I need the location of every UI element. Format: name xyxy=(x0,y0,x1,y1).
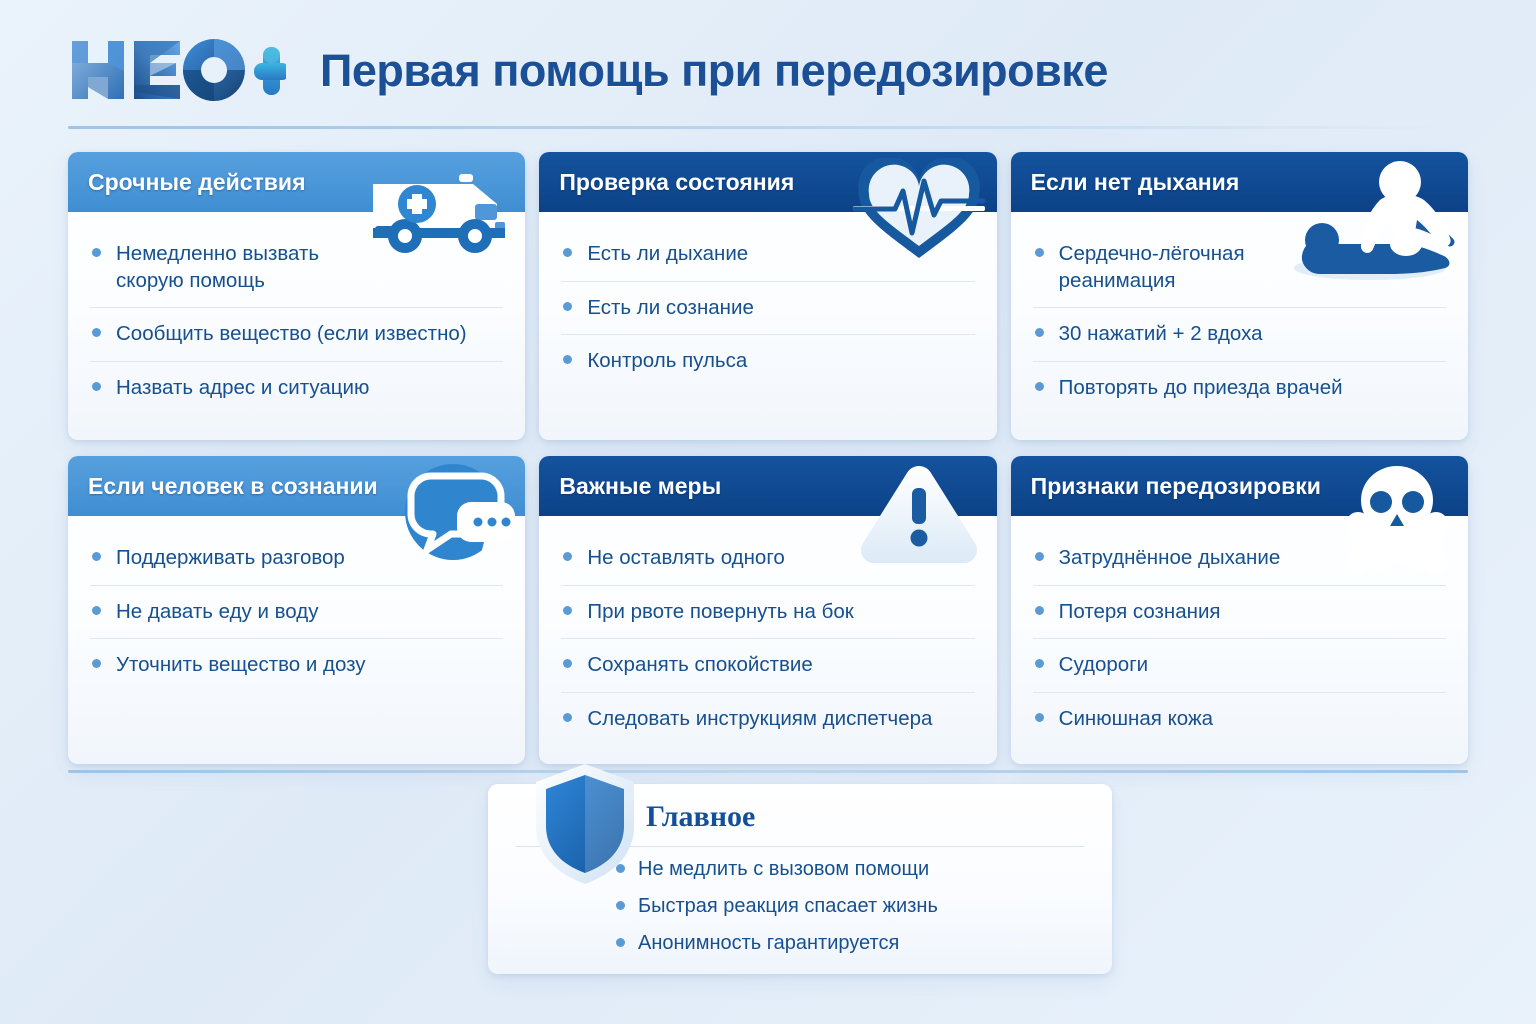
card-body: Поддерживать разговор Не давать еду и во… xyxy=(68,516,525,764)
list-item: Повторять до приезда врачей xyxy=(1033,362,1446,415)
card-no-breathing[interactable]: Если нет дыхания Сердечно-лёгочная реани… xyxy=(1011,152,1468,440)
summary-title: Главное xyxy=(646,802,1084,832)
cards-grid: Срочные действия Немедленно вызвать скор… xyxy=(68,152,1468,764)
list-item: Сообщить вещество (если известно) xyxy=(90,308,503,362)
list-item: Быстрая реакция спасает жизнь xyxy=(616,888,1084,925)
list-item: Не оставлять одного xyxy=(561,532,974,586)
card-body: Не оставлять одного При рвоте повернуть … xyxy=(539,516,996,764)
card-overdose-signs[interactable]: Признаки передозировки xyxy=(1011,456,1468,764)
list-item: Назвать адрес и ситуацию xyxy=(90,362,503,415)
card-conscious-person[interactable]: Если человек в сознании Поддерживать раз… xyxy=(68,456,525,764)
list-item: Немедленно вызвать скорую помощь xyxy=(90,228,503,308)
card-title: Срочные действия xyxy=(88,171,306,194)
card-header: Срочные действия xyxy=(68,152,525,212)
card-header: Если человек в сознании xyxy=(68,456,525,516)
card-list: Немедленно вызвать скорую помощь Сообщит… xyxy=(90,228,503,415)
card-title: Важные меры xyxy=(559,475,721,498)
card-header: Важные меры xyxy=(539,456,996,516)
list-item: Поддерживать разговор xyxy=(90,532,503,586)
card-list: Поддерживать разговор Не давать еду и во… xyxy=(90,532,503,692)
list-item: При рвоте повернуть на бок xyxy=(561,586,974,640)
summary-panel[interactable]: Главное Не медлить с вызовом помощи Быст… xyxy=(488,784,1112,974)
page-header: Первая помощь при передозировке xyxy=(68,22,1468,118)
list-item: 30 нажатий + 2 вдоха xyxy=(1033,308,1446,362)
header-divider xyxy=(68,126,1468,129)
card-list: Не оставлять одного При рвоте повернуть … xyxy=(561,532,974,746)
list-item: Следовать инструкциям диспетчера xyxy=(561,693,974,746)
list-item: Синюшная кожа xyxy=(1033,693,1446,746)
footer-divider xyxy=(68,770,1468,773)
list-item: Уточнить вещество и дозу xyxy=(90,639,503,692)
card-list: Сердечно-лёгочная реанимация 30 нажатий … xyxy=(1033,228,1446,415)
neo-plus-logo xyxy=(68,35,286,105)
card-title: Если нет дыхания xyxy=(1031,171,1240,194)
card-body: Затруднённое дыхание Потеря сознания Суд… xyxy=(1011,516,1468,764)
card-header: Если нет дыхания xyxy=(1011,152,1468,212)
card-urgent-actions[interactable]: Срочные действия Немедленно вызвать скор… xyxy=(68,152,525,440)
card-important-measures[interactable]: Важные меры Не оставлять одного При рвот… xyxy=(539,456,996,764)
card-list: Затруднённое дыхание Потеря сознания Суд… xyxy=(1033,532,1446,746)
list-item: Не давать еду и воду xyxy=(90,586,503,640)
page-title: Первая помощь при передозировке xyxy=(320,48,1108,93)
card-body: Сердечно-лёгочная реанимация 30 нажатий … xyxy=(1011,212,1468,440)
list-item: Анонимность гарантируется xyxy=(616,925,1084,962)
list-item: Затруднённое дыхание xyxy=(1033,532,1446,586)
card-title: Признаки передозировки xyxy=(1031,475,1321,498)
list-item: Есть ли дыхание xyxy=(561,228,974,282)
list-item: Сохранять спокойствие xyxy=(561,639,974,693)
list-item: Судороги xyxy=(1033,639,1446,693)
list-item: Сердечно-лёгочная реанимация xyxy=(1033,228,1446,308)
card-header: Признаки передозировки xyxy=(1011,456,1468,516)
card-header: Проверка состояния xyxy=(539,152,996,212)
card-list: Есть ли дыхание Есть ли сознание Контрол… xyxy=(561,228,974,388)
card-title: Проверка состояния xyxy=(559,171,794,194)
list-item: Потеря сознания xyxy=(1033,586,1446,640)
list-item: Есть ли сознание xyxy=(561,282,974,336)
infographic-page: Первая помощь при передозировке Срочные … xyxy=(0,0,1536,1024)
card-title: Если человек в сознании xyxy=(88,475,378,498)
card-body: Есть ли дыхание Есть ли сознание Контрол… xyxy=(539,212,996,440)
card-body: Немедленно вызвать скорую помощь Сообщит… xyxy=(68,212,525,440)
list-item: Контроль пульса xyxy=(561,335,974,388)
list-item: Не медлить с вызовом помощи xyxy=(616,851,1084,888)
card-condition-check[interactable]: Проверка состояния Есть ли дыхание Есть … xyxy=(539,152,996,440)
